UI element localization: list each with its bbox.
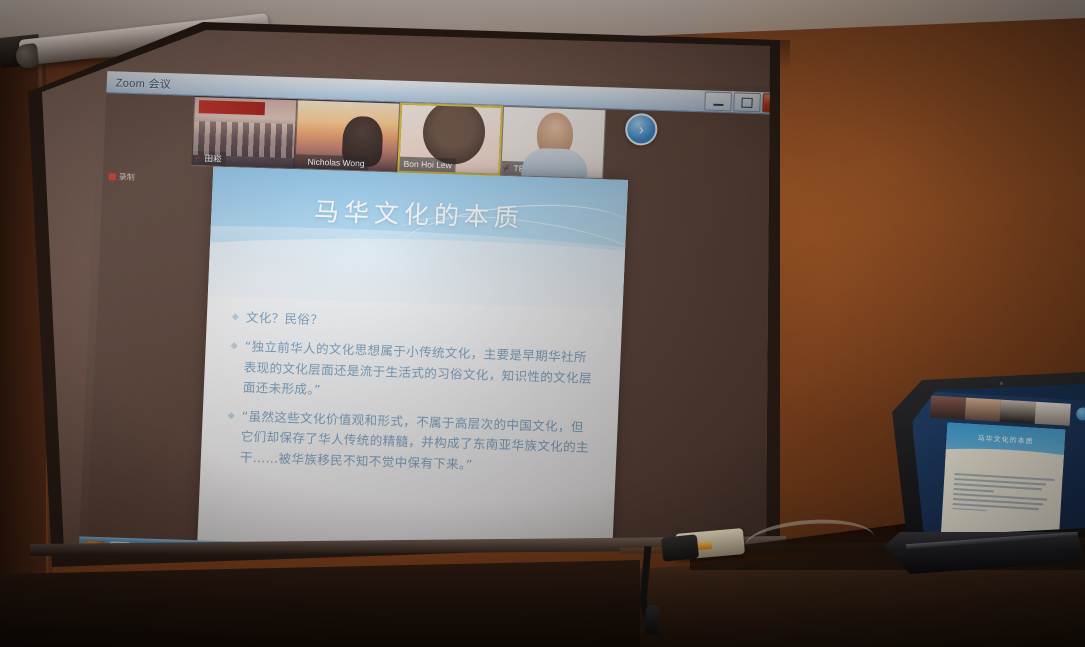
slide-bullet-text: “虽然这些文化价值观和形式，不属于高层次的中国文化，但它们却保存了华人传统的精髓… — [239, 407, 596, 479]
presenter-laptop: 马华文化的本质 — [884, 372, 1085, 572]
next-page-button[interactable]: › — [625, 113, 658, 146]
participant-thumbnail-strip[interactable]: ⌿ 田崧 ⌿ Nicholas Wong Bon Hoi Lew ⌿ TEY S… — [191, 96, 606, 179]
laptop-participant-thumbnail — [1035, 402, 1071, 426]
close-button[interactable]: ✕ — [762, 93, 770, 113]
zoom-meeting-window[interactable]: Zoom 会议 ✕ 录制 ⌿ 田崧 — [87, 71, 770, 550]
recording-indicator: 录制 — [109, 171, 135, 183]
floor-shadow — [0, 560, 640, 647]
participant-thumbnail-active-speaker[interactable]: Bon Hoi Lew — [397, 103, 503, 176]
slide-bullet: “虽然这些文化价值观和形式，不属于高层次的中国文化，但它们却保存了华人传统的精髓… — [226, 406, 596, 479]
cable-ferrite-bead — [644, 605, 660, 636]
slide-bullet: 文化？民俗？ — [232, 307, 601, 339]
conference-room-scene: Zoom 会议 ✕ 录制 ⌿ 田崧 — [0, 0, 1085, 647]
laptop-participant-thumbnail — [965, 398, 1001, 422]
projection-screen-surface: Zoom 会议 ✕ 录制 ⌿ 田崧 — [42, 30, 770, 550]
bullet-marker-icon — [231, 343, 238, 350]
window-title: Zoom 会议 — [107, 74, 172, 92]
slide-bullet-text: 文化？民俗？ — [245, 308, 323, 331]
laptop-lid: 马华文化的本质 — [892, 372, 1085, 548]
laptop-screen: 马华文化的本质 — [912, 384, 1085, 536]
slide-bullet: “独立前华人的文化思想属于小传统文化，主要是早期华社所表现的文化层面还是流于生活… — [229, 337, 599, 410]
record-dot-icon — [109, 173, 116, 180]
laptop-participant-thumbnail — [1000, 400, 1036, 424]
bullet-marker-icon — [232, 313, 239, 320]
bullet-marker-icon — [228, 412, 235, 419]
slide-body: 文化？民俗？ “独立前华人的文化思想属于小传统文化，主要是早期华社所表现的文化层… — [226, 307, 601, 487]
slide-bullet-text: “独立前华人的文化思想属于小传统文化，主要是早期华社所表现的文化层面还是流于生活… — [242, 337, 599, 409]
shared-presentation-slide: 马华文化的本质 文化？民俗？ “独立前华人的文化思想属于小传统文化，主要是早期华… — [197, 167, 628, 550]
laptop-shared-slide: 马华文化的本质 — [941, 423, 1065, 536]
minimize-button[interactable] — [704, 91, 732, 111]
laptop-webcam-icon — [1000, 382, 1003, 385]
participant-thumbnail[interactable]: ⌿ 田崧 — [191, 96, 297, 169]
participant-thumbnail[interactable]: ⌿ Nicholas Wong — [294, 99, 400, 172]
participant-name: Bon Hoi Lew — [399, 157, 456, 173]
participant-name: Nicholas Wong — [295, 154, 369, 170]
participant-name: 田崧 — [192, 151, 226, 166]
laptop-slide-text-lines — [952, 473, 1054, 519]
restore-button[interactable] — [733, 92, 761, 112]
laptop-screen-content: 马华文化的本质 — [912, 384, 1085, 536]
participant-thumbnail[interactable]: ⌿ TEY SHI BIN — [500, 106, 606, 179]
laptop-participant-thumbnail — [930, 396, 966, 420]
recording-label: 录制 — [119, 172, 135, 184]
projected-desktop: Zoom 会议 ✕ 录制 ⌿ 田崧 — [42, 30, 770, 550]
participant-name: TEY SHI BIN — [501, 161, 567, 177]
window-controls[interactable]: ✕ — [704, 91, 770, 113]
